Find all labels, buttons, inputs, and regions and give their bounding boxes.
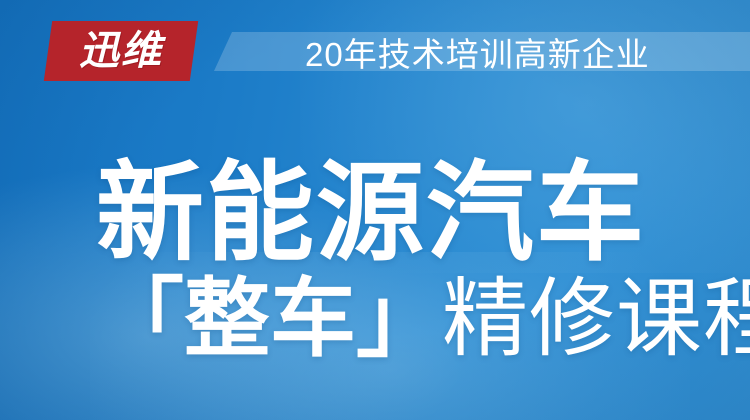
brand-logo-text: 迅维 [79, 31, 163, 71]
page-title-secondary-rest: 精修课程 [442, 271, 750, 367]
brand-logo-badge[interactable]: 迅维 [44, 21, 198, 81]
tagline-text: 20年技术培训高新企业 [305, 30, 695, 74]
page-title-primary: 新能源汽车 [0, 158, 750, 268]
page-title-secondary-emphasis: 「整车」 [98, 271, 442, 367]
poster-root: 迅维 20年技术培训高新企业 新能源汽车 「整车」精修课程 [0, 0, 750, 420]
header: 迅维 20年技术培训高新企业 [0, 0, 750, 100]
title-block: 新能源汽车 「整车」精修课程 [0, 158, 750, 364]
page-title-secondary: 「整车」精修课程 [0, 268, 750, 364]
